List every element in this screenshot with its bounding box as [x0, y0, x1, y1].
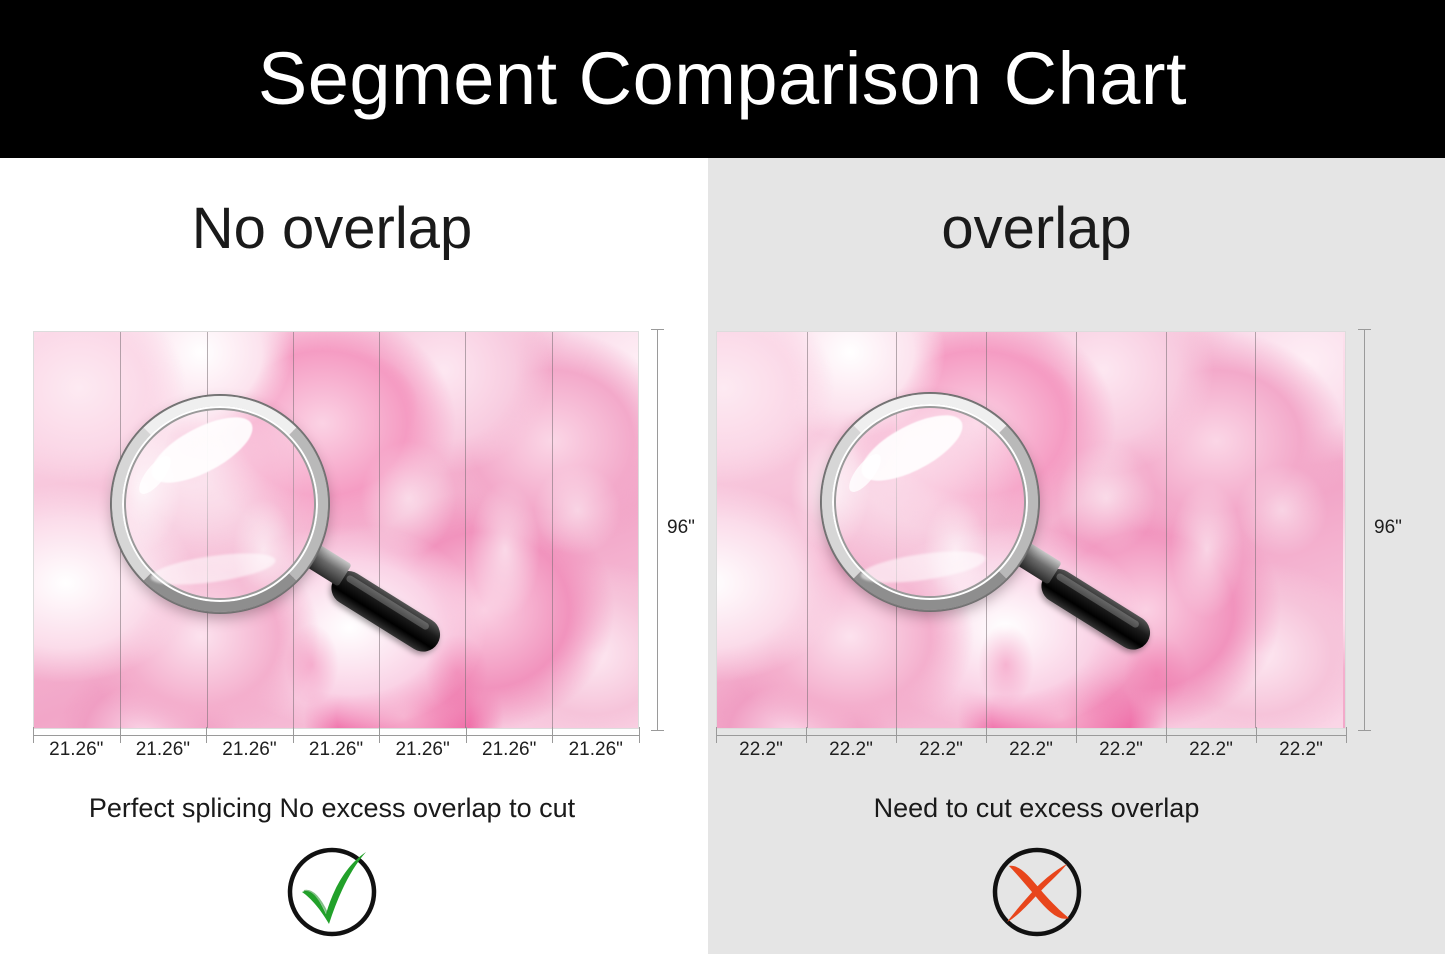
title-banner: Segment Comparison Chart — [0, 0, 1445, 158]
dimension-cap — [1358, 329, 1371, 330]
segment-width-label: 21.26" — [466, 739, 553, 762]
segment-width-label: 22.2" — [806, 739, 896, 762]
dimension-tick — [1346, 727, 1347, 743]
dimension-cap — [651, 329, 664, 330]
panel-heading-no-overlap: No overlap — [0, 200, 686, 258]
height-label: 96" — [1374, 518, 1402, 537]
segment-width-labels: 22.2" 22.2" 22.2" 22.2" 22.2" 22.2" 22.2… — [716, 739, 1346, 762]
green-check-icon — [284, 844, 380, 940]
comparison-panels: No overlap — [0, 158, 1445, 954]
segment-width-labels: 21.26" 21.26" 21.26" 21.26" 21.26" 21.26… — [33, 739, 639, 762]
page-title: Segment Comparison Chart — [258, 42, 1187, 116]
mural-figure-no-overlap: 21.26" 21.26" 21.26" 21.26" 21.26" 21.26… — [33, 331, 639, 729]
caption-no-overlap: Perfect splicing No excess overlap to cu… — [0, 795, 686, 822]
mural-figure-overlap: 22.2" 22.2" 22.2" 22.2" 22.2" 22.2" 22.2… — [716, 331, 1346, 729]
height-dimension-line — [657, 329, 658, 731]
segment-width-label: 22.2" — [716, 739, 806, 762]
segment-width-label: 21.26" — [120, 739, 207, 762]
mural-image-overlap — [716, 331, 1346, 729]
verdict-no-overlap — [0, 844, 686, 940]
red-cross-icon — [989, 844, 1085, 940]
floral-highlights — [34, 332, 638, 728]
segment-width-label: 21.26" — [293, 739, 380, 762]
dimension-cap — [651, 730, 664, 731]
segment-width-label: 22.2" — [1166, 739, 1256, 762]
dimension-tick — [639, 727, 640, 743]
segment-width-label: 21.26" — [552, 739, 639, 762]
caption-overlap: Need to cut excess overlap — [668, 795, 1405, 822]
dimension-cap — [1358, 730, 1371, 731]
panel-overlap: overlap — [708, 158, 1445, 954]
segment-width-label: 22.2" — [986, 739, 1076, 762]
verdict-overlap — [668, 844, 1405, 940]
mural-image-no-overlap — [33, 331, 639, 729]
segment-width-label: 22.2" — [1256, 739, 1346, 762]
segment-width-label: 22.2" — [1076, 739, 1166, 762]
height-dimension-line — [1364, 329, 1365, 731]
panel-no-overlap: No overlap — [0, 158, 708, 954]
segment-width-label: 21.26" — [379, 739, 466, 762]
panel-heading-overlap: overlap — [668, 200, 1405, 258]
segment-comparison-chart-page: Segment Comparison Chart No overlap — [0, 0, 1445, 954]
segment-width-label: 21.26" — [206, 739, 293, 762]
height-label: 96" — [667, 518, 695, 537]
segment-width-label: 22.2" — [896, 739, 986, 762]
segment-width-label: 21.26" — [33, 739, 120, 762]
floral-highlights — [717, 332, 1345, 728]
